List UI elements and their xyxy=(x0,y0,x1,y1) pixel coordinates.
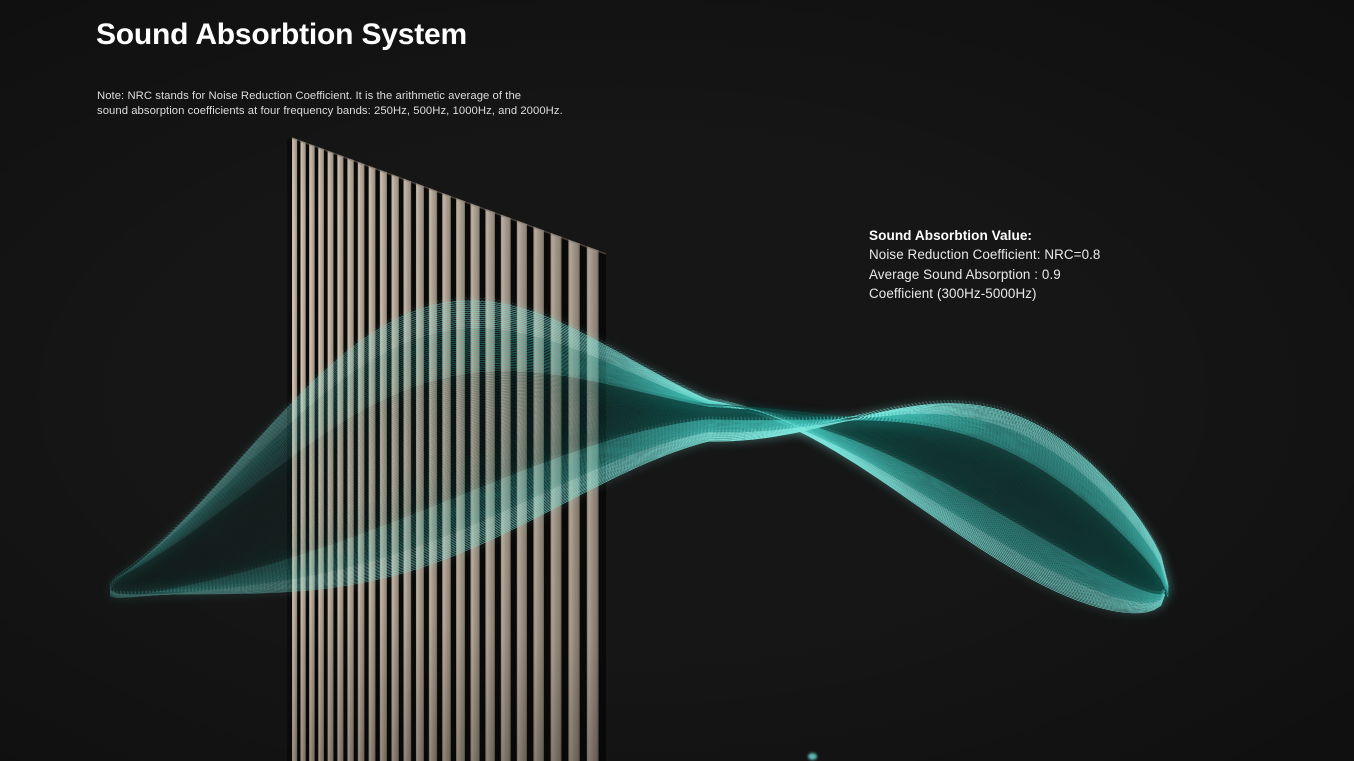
page-title: Sound Absorbtion System xyxy=(96,18,467,52)
note-line-1: Note: NRC stands for Noise Reduction Coe… xyxy=(97,89,563,104)
note-text: Note: NRC stands for Noise Reduction Coe… xyxy=(97,89,563,119)
value-heading: Sound Absorbtion Value: xyxy=(869,226,1100,245)
sound-absorption-value-block: Sound Absorbtion Value: Noise Reduction … xyxy=(869,226,1100,303)
note-line-2: sound absorption coefficients at four fr… xyxy=(97,104,563,119)
value-nrc-line: Noise Reduction Coefficient: NRC=0.8 xyxy=(869,245,1100,264)
value-average-line: Average Sound Absorption : 0.9 xyxy=(869,265,1100,284)
wave-spark-dot xyxy=(808,753,817,760)
value-coefficient-range-line: Coefficient (300Hz-5000Hz) xyxy=(869,284,1100,303)
slide-canvas: Sound Absorbtion System Note: NRC stands… xyxy=(0,0,1354,761)
